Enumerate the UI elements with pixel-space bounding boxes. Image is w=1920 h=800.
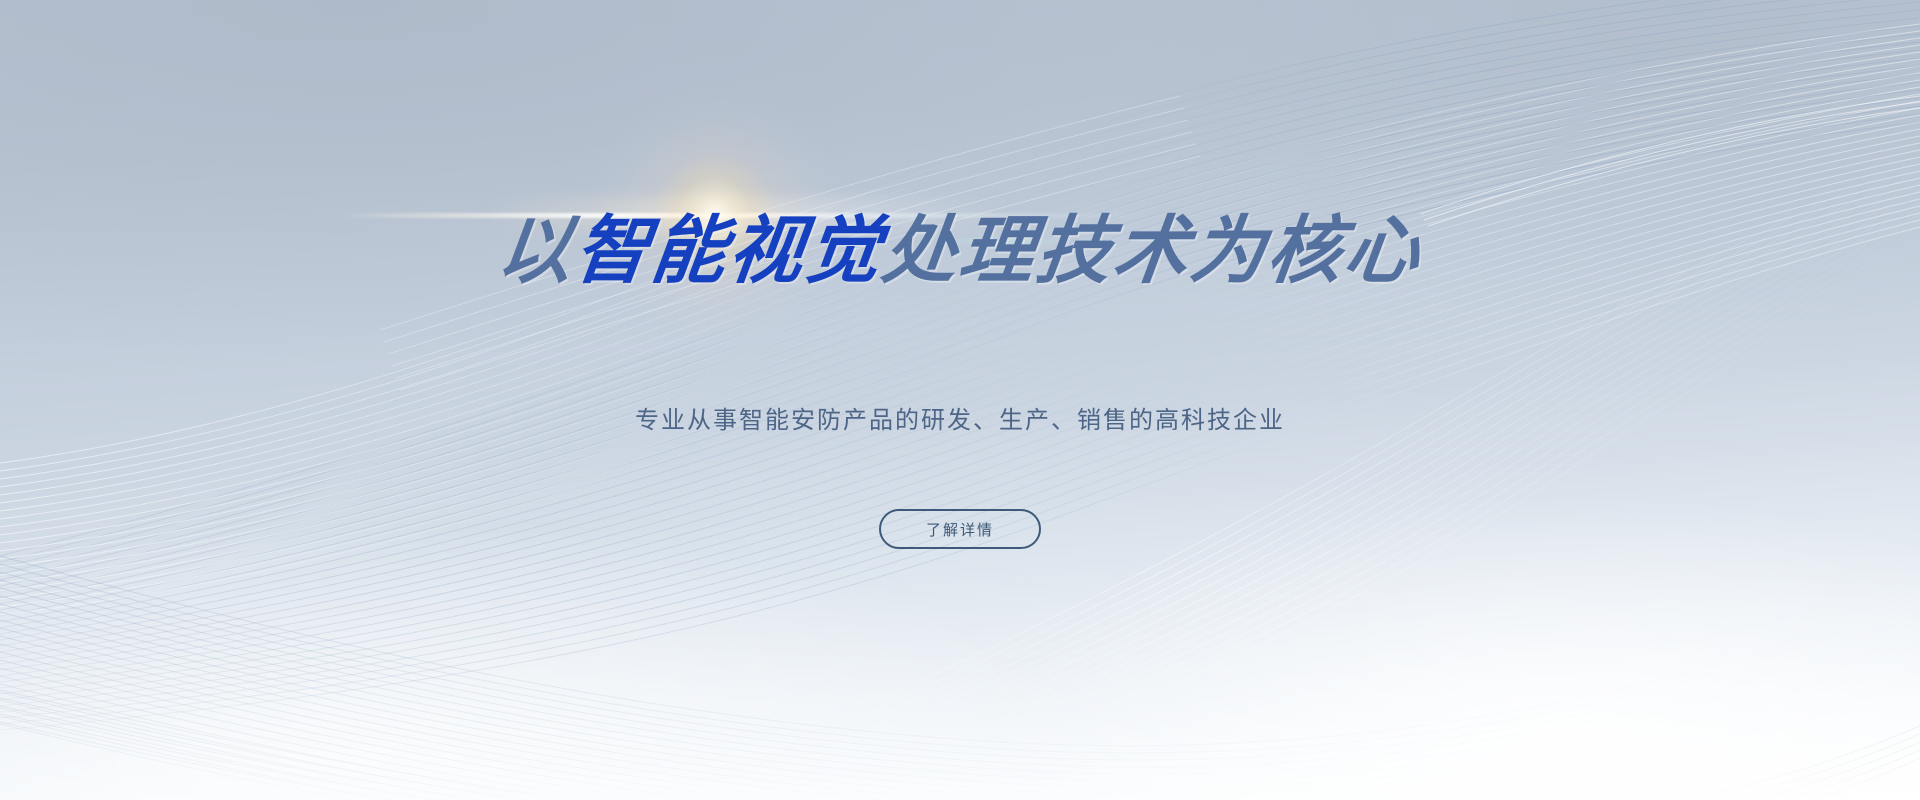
hero-subtitle: 专业从事智能安防产品的研发、生产、销售的高科技企业 xyxy=(0,400,1920,435)
page-title: 以智能视觉处理技术为核心 xyxy=(0,213,1920,291)
cta-container: 了解详情 xyxy=(0,509,1920,549)
hero-banner: 以智能视觉处理技术为核心 专业从事智能安防产品的研发、生产、销售的高科技企业 了… xyxy=(0,0,1920,800)
learn-more-button[interactable]: 了解详情 xyxy=(879,509,1041,549)
title-tail: 处理技术为核心 xyxy=(878,208,1428,294)
hero-content: 以智能视觉处理技术为核心 专业从事智能安防产品的研发、生产、销售的高科技企业 了… xyxy=(0,0,1920,800)
title-lead: 以 xyxy=(493,208,581,294)
title-accent: 智能视觉 xyxy=(570,208,889,294)
